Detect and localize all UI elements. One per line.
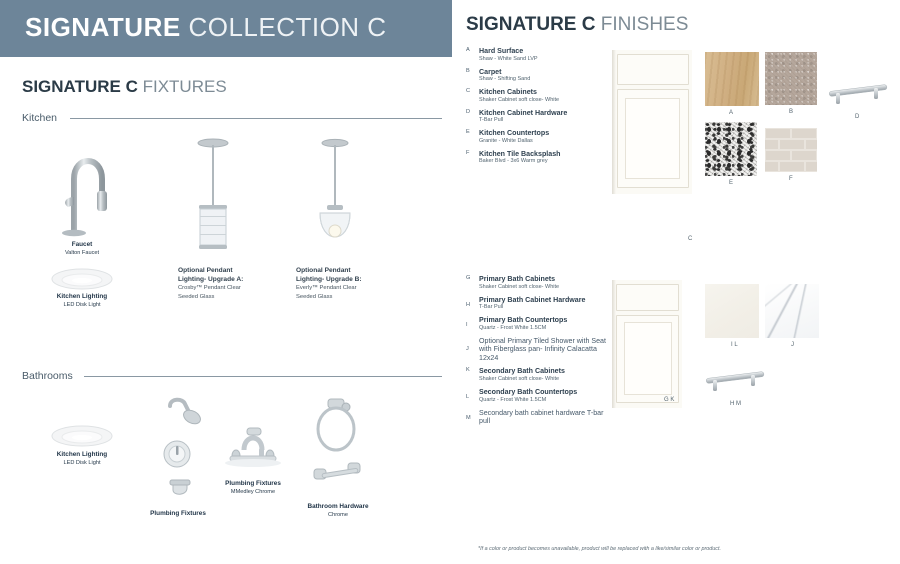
legend-row: E Kitchen Countertops Granite - White Da… [466,129,606,145]
fixture-caption: Plumbing Fixtures MMedley Chrome [208,480,298,497]
swatch-label-g-k: G K [664,397,674,403]
legend-name: Optional Primary Tiled Shower with Seat … [479,337,606,363]
fixture-caption: Bathroom Hardware Chrome [296,503,380,520]
legend-desc: Baker Blvd - 3x6 Warm grey [479,158,606,165]
fixture-pendant-b: Optional Pendant Lighting- Upgrade B: Ev… [296,133,374,263]
legend-desc: Quartz - Frost White 1.5CM [479,325,606,332]
fixture-pendant-a: Optional Pendant Lighting- Upgrade A: Cr… [178,133,248,263]
section-rule-kitchen [70,118,442,119]
legend-letter: A [466,47,470,53]
page-title-light: COLLECTION C [188,12,386,42]
legend-row: J Optional Primary Tiled Shower with Sea… [466,337,606,363]
fixtures-title-bold: SIGNATURE C [22,77,138,96]
legend-desc: Shaker Cabinet soft close- White [479,97,606,104]
swatch-label-b: B [789,109,793,115]
finishes-title: SIGNATURE C FINISHES [466,14,688,36]
legend-name: Primary Bath Cabinets [479,275,606,284]
legend-letter: D [466,109,470,115]
legend-desc: Shaw - White Sand LVP [479,56,606,63]
swatch-bath-countertop[interactable]: I L [705,284,759,338]
legend-desc: Granite - White Dallas [479,138,606,145]
legend-row: D Kitchen Cabinet Hardware T-Bar Pull [466,109,606,125]
page-title-bold: SIGNATURE [25,12,181,42]
fixture-kitchen-faucet: Faucet Valton Faucet [36,133,128,258]
fixture-name: Kitchen Lighting [57,451,107,458]
legend-letter: C [466,88,470,94]
legend-name: Hard Surface [479,47,606,56]
fixture-caption: Kitchen Lighting LED Disk Light [36,451,128,468]
page-title: SIGNATURE COLLECTION C [25,12,387,43]
swatch-kitchen-backsplash[interactable]: F [765,128,817,172]
section-label-bathrooms: Bathrooms [22,370,73,382]
pendant-b-image [309,133,361,263]
swatch-label-j: J [791,342,794,348]
legend-name: Secondary Bath Cabinets [479,367,606,376]
legend-desc: T-Bar Pull [479,304,606,311]
disk-light-image [51,425,113,447]
fixture-sub: Chrome [328,512,348,518]
legend-name: Secondary bath cabinet hardware T-bar pu… [479,409,606,426]
finishes-title-bold: SIGNATURE C [466,14,595,35]
shower-trim-image [143,392,213,504]
legend-name: Kitchen Countertops [479,129,606,138]
legend-row: L Secondary Bath Countertops Quartz - Fr… [466,388,606,404]
swatch-label-c: C [688,236,692,242]
swatch-bath-cabinet[interactable]: G K [612,280,682,408]
fixture-name: Optional Pendant Lighting- Upgrade B: [296,267,362,283]
fixtures-title-light: FIXTURES [143,77,227,96]
legend-row: C Kitchen Cabinets Shaker Cabinet soft c… [466,88,606,104]
swatch-label-f: F [789,176,793,182]
fixture-name: Faucet [72,241,93,248]
section-label-kitchen: Kitchen [22,112,57,124]
swatch-label-d: D [855,114,859,120]
fixture-kitchen-lighting: Kitchen Lighting LED Disk Light [36,268,128,310]
towel-ring-image [300,393,376,501]
fixture-name: Kitchen Lighting [57,293,107,300]
fixture-lav-faucet: Plumbing Fixtures MMedley Chrome [208,404,298,497]
fixture-sub: Crosby™ Pendant Clear Seeded Glass [178,285,241,300]
finishes-title-light: FINISHES [601,14,689,35]
swatch-carpet[interactable]: B [765,52,817,105]
fixture-name: Optional Pendant Lighting- Upgrade A: [178,267,243,283]
fixture-caption: Optional Pendant Lighting- Upgrade A: Cr… [178,267,248,302]
swatch-kitchen-hardware[interactable]: D [827,78,889,110]
swatch-label-a: A [729,110,733,116]
footnote: *If a color or product becomes unavailab… [478,546,721,552]
section-header-kitchen: Kitchen [22,112,57,124]
fixtures-title: SIGNATURE C FIXTURES [22,77,227,97]
fixture-bath-lighting: Kitchen Lighting LED Disk Light [36,425,128,468]
legend-row: K Secondary Bath Cabinets Shaker Cabinet… [466,367,606,383]
fixture-caption: Optional Pendant Lighting- Upgrade B: Ev… [296,267,374,302]
fixture-bath-hardware: Bathroom Hardware Chrome [296,393,380,520]
swatch-label-i-l: I L [731,342,738,348]
legend-row: H Primary Bath Cabinet Hardware T-Bar Pu… [466,296,606,312]
legend-letter: E [466,129,470,135]
legend-desc: T-Bar Pull [479,117,606,124]
legend-desc: Quartz - Frost White 1.5CM [479,397,606,404]
legend-kitchen-finishes: A Hard Surface Shaw - White Sand LVP B C… [466,47,606,170]
legend-name: Carpet [479,68,606,77]
legend-desc: Shaker Cabinet soft close- White [479,284,606,291]
fixture-name: Plumbing Fixtures [225,480,281,487]
disk-light-image [51,268,113,290]
section-header-bathrooms: Bathrooms [22,370,73,382]
legend-row: M Secondary bath cabinet hardware T-bar … [466,409,606,426]
legend-name: Secondary Bath Countertops [479,388,606,397]
fixture-name: Bathroom Hardware [307,503,368,510]
fixture-caption: Plumbing Fixtures [128,510,228,518]
fixture-caption: Faucet Valton Faucet [36,241,128,258]
legend-letter: B [466,68,470,74]
fixture-sub: LED Disk Light [64,460,101,466]
t-bar-pull-icon [704,365,766,397]
legend-name: Primary Bath Countertops [479,316,606,325]
legend-name: Primary Bath Cabinet Hardware [479,296,606,305]
legend-name: Kitchen Cabinets [479,88,606,97]
legend-name: Kitchen Tile Backsplash [479,150,606,159]
swatch-kitchen-cabinet[interactable]: C [612,50,692,194]
fixture-sub: MMedley Chrome [231,489,275,495]
legend-row: G Primary Bath Cabinets Shaker Cabinet s… [466,275,606,291]
lav-faucet-image [216,404,290,478]
legend-bath-finishes: G Primary Bath Cabinets Shaker Cabinet s… [466,275,606,431]
fixture-sub: LED Disk Light [64,302,101,308]
section-rule-bathrooms [84,376,442,377]
fixture-name: Plumbing Fixtures [150,510,206,517]
fixture-caption: Kitchen Lighting LED Disk Light [36,293,128,310]
legend-row: I Primary Bath Countertops Quartz - Fros… [466,316,606,332]
kitchen-faucet-image [52,133,112,237]
legend-letter: F [466,150,469,156]
legend-letter: J [466,346,469,352]
legend-letter: M [466,415,471,421]
header-band: SIGNATURE COLLECTION C [0,0,452,57]
legend-letter: I [466,322,468,328]
swatch-label-e: E [729,180,733,186]
legend-letter: H [466,302,470,308]
swatch-hard-surface[interactable]: A [705,52,759,106]
legend-letter: K [466,367,470,373]
legend-letter: G [466,275,470,281]
legend-name: Kitchen Cabinet Hardware [479,109,606,118]
legend-row: B Carpet Shaw - Shifting Sand [466,68,606,84]
t-bar-pull-icon [827,78,889,110]
legend-row: A Hard Surface Shaw - White Sand LVP [466,47,606,63]
swatch-kitchen-countertop[interactable]: E [705,122,757,176]
legend-row: F Kitchen Tile Backsplash Baker Blvd - 3… [466,150,606,166]
fixture-sub: Everly™ Pendant Clear Seeded Glass [296,285,357,300]
legend-desc: Shaw - Shifting Sand [479,76,606,83]
swatch-bath-hardware[interactable]: H M [704,365,766,397]
legend-desc: Shaker Cabinet soft close- White [479,376,606,383]
pendant-a-image [191,133,235,263]
swatch-shower-tile[interactable]: J [765,284,819,338]
legend-letter: L [466,394,469,400]
swatch-label-h-m: H M [730,401,741,407]
fixture-sub: Valton Faucet [65,250,99,256]
